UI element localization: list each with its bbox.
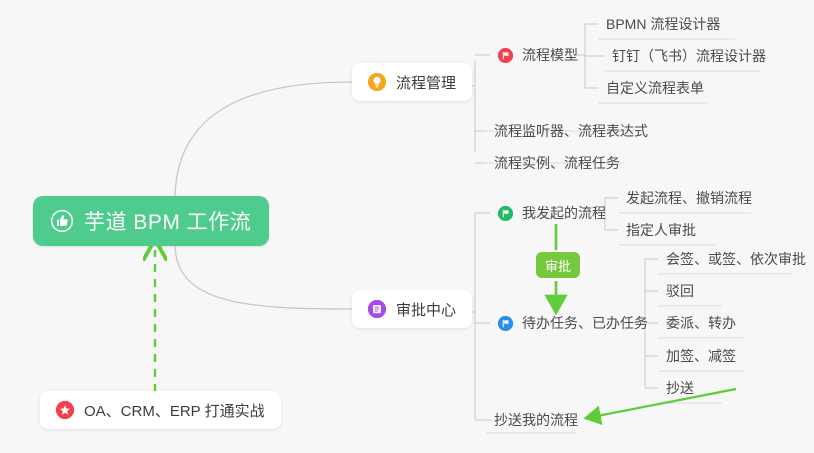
leaf-instance-task-label: 流程实例、流程任务 (494, 153, 620, 173)
leaf-cc-to-me-label: 抄送我的流程 (494, 410, 578, 430)
branch-approval-center-label: 审批中心 (396, 299, 456, 320)
leaf-cc-to-me[interactable]: 抄送我的流程 (486, 405, 586, 435)
connector-root-to-process-management (175, 82, 352, 200)
branch-approval-center[interactable]: 审批中心 (352, 290, 472, 328)
leaf-add-remove-sign[interactable]: 加签、减签 (658, 341, 744, 371)
lightbulb-icon (368, 73, 386, 91)
node-todo-done-task[interactable]: 待办任务、已办任务 (490, 308, 656, 338)
leaf-cc[interactable]: 抄送 (658, 373, 702, 403)
leaf-listener-expression[interactable]: 流程监听器、流程表达式 (486, 116, 656, 146)
node-todo-done-task-label: 待办任务、已办任务 (522, 313, 648, 333)
leaf-bpmn-designer[interactable]: BPMN 流程设计器 (598, 9, 728, 39)
callout-node[interactable]: OA、CRM、ERP 打通实战 (40, 391, 281, 429)
leaf-reject-label: 驳回 (666, 281, 694, 301)
thumbs-up-icon (51, 210, 73, 232)
leaf-bpmn-designer-label: BPMN 流程设计器 (606, 14, 720, 34)
node-process-model[interactable]: 流程模型 (490, 40, 586, 70)
mindmap-canvas: 芋道 BPM 工作流 OA、CRM、ERP 打通实战 流程管理 (0, 0, 814, 453)
leaf-add-remove-sign-label: 加签、减签 (666, 346, 736, 366)
node-my-initiated-label: 我发起的流程 (522, 203, 606, 223)
approval-badge-label: 审批 (545, 256, 571, 275)
flag-icon (498, 206, 513, 221)
node-process-model-label: 流程模型 (522, 45, 578, 65)
branch-process-management[interactable]: 流程管理 (352, 63, 472, 101)
approval-badge: 审批 (536, 252, 580, 278)
node-my-initiated[interactable]: 我发起的流程 (490, 198, 614, 228)
leaf-assignee-approval-label: 指定人审批 (626, 220, 696, 240)
leaf-instance-task[interactable]: 流程实例、流程任务 (486, 148, 628, 178)
inbox-icon (368, 300, 386, 318)
root-label: 芋道 BPM 工作流 (84, 206, 251, 236)
leaf-countersign[interactable]: 会签、或签、依次审批 (658, 244, 814, 274)
leaf-delegate-transfer[interactable]: 委派、转办 (658, 308, 744, 338)
flag-icon (498, 48, 513, 63)
root-node[interactable]: 芋道 BPM 工作流 (33, 196, 269, 246)
leaf-custom-form[interactable]: 自定义流程表单 (598, 73, 712, 103)
leaf-delegate-transfer-label: 委派、转办 (666, 313, 736, 333)
leaf-start-cancel-process-label: 发起流程、撤销流程 (626, 188, 752, 208)
leaf-assignee-approval[interactable]: 指定人审批 (618, 215, 704, 245)
leaf-listener-expression-label: 流程监听器、流程表达式 (494, 121, 648, 141)
leaf-countersign-label: 会签、或签、依次审批 (666, 249, 806, 269)
leaf-dingtalk-designer[interactable]: 钉钉（飞书）流程设计器 (604, 41, 774, 71)
star-icon (56, 401, 74, 419)
leaf-custom-form-label: 自定义流程表单 (606, 78, 704, 98)
leaf-dingtalk-designer-label: 钉钉（飞书）流程设计器 (612, 46, 766, 66)
leaf-cc-label: 抄送 (666, 378, 694, 398)
leaf-reject[interactable]: 驳回 (658, 276, 702, 306)
branch-process-management-label: 流程管理 (396, 72, 456, 93)
callout-label: OA、CRM、ERP 打通实战 (84, 400, 265, 421)
leaf-start-cancel-process[interactable]: 发起流程、撤销流程 (618, 183, 760, 213)
connector-root-to-approval-center (175, 244, 352, 309)
flag-icon (498, 316, 513, 331)
